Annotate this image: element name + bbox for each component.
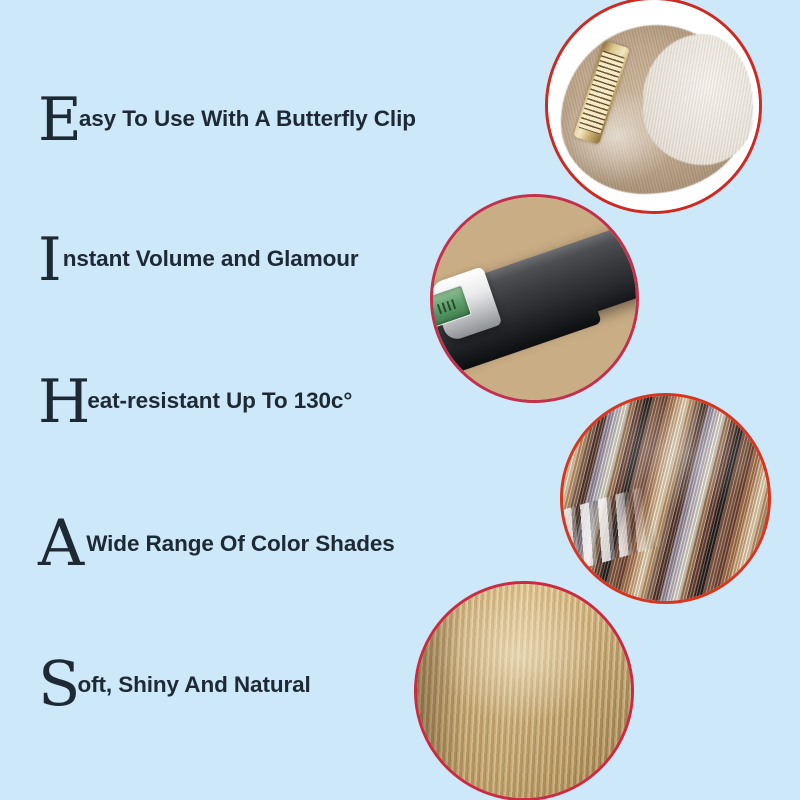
hair-sheen-overlay [563,396,768,601]
photo-image [563,396,768,601]
feature-text: nstant Volume and Glamour [63,246,359,271]
feature-item-heat-resistant: Heat-resistant Up To 130c° [38,360,352,420]
hair-bun-highlight [643,34,753,165]
photo-image [548,0,759,211]
feature-text: Wide Range Of Color Shades [86,531,395,556]
photo-image [433,197,636,400]
feature-item-instant-volume: Instant Volume and Glamour [38,218,359,278]
feature-text: eat-resistant Up To 130c° [87,388,352,413]
photo-flat-iron-on-blonde-hair [430,194,639,403]
drop-cap-letter: S [38,647,79,720]
feature-text: asy To Use With A Butterfly Clip [79,106,416,131]
photo-blonde-bun-with-butterfly-clip [545,0,762,214]
drop-cap-letter: A [38,507,83,581]
feature-item-soft-shiny: Soft, Shiny And Natural [38,640,311,702]
photo-golden-blonde-hair-texture [414,581,634,800]
drop-cap-letter: E [38,85,81,155]
drop-cap-letter: I [38,225,61,295]
feature-item-easy-to-use: Easy To Use With A Butterfly Clip [38,78,416,138]
photo-multicolour-hair-swatches [560,393,771,604]
photo-image [417,584,631,798]
product-feature-poster: Easy To Use With A Butterfly Clip Instan… [0,0,800,800]
feature-list: Easy To Use With A Butterfly Clip Instan… [0,0,470,800]
feature-item-color-shades: AWide Range Of Color Shades [38,498,395,562]
hair-shade-overlay [417,584,631,798]
drop-cap-letter: H [38,367,89,437]
feature-text: oft, Shiny And Natural [77,672,310,697]
